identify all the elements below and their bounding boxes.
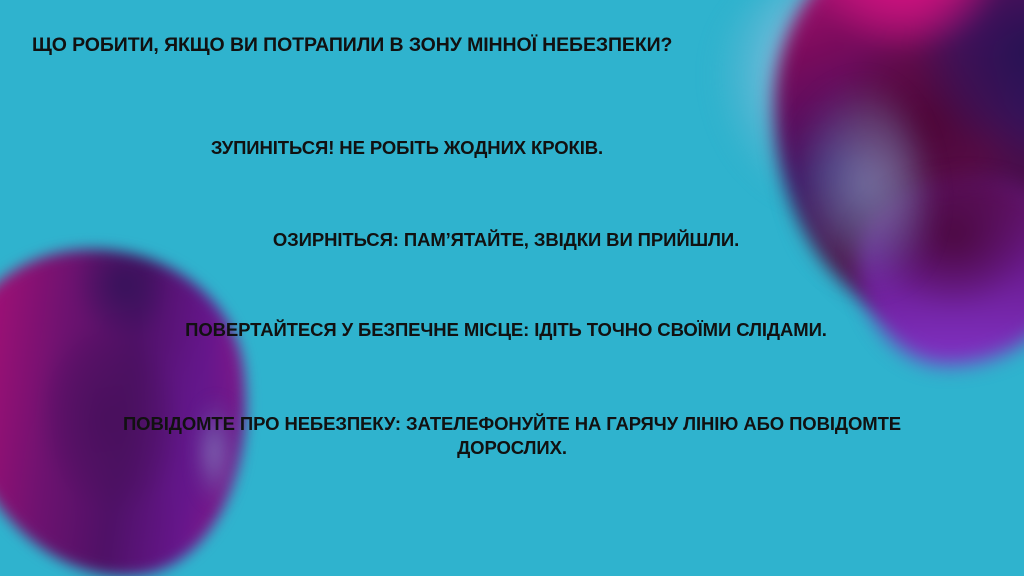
safety-step-3: ПОВЕРТАЙТЕСЯ У БЕЗПЕЧНЕ МІСЦЕ: ІДІТЬ ТОЧ… xyxy=(0,318,1024,342)
safety-step-1: ЗУПИНІТЬСЯ! НЕ РОБІТЬ ЖОДНИХ КРОКІВ. xyxy=(0,136,1024,160)
safety-step-4: ПОВІДОМТЕ ПРО НЕБЕЗПЕКУ: ЗАТЕЛЕФОНУЙТЕ Н… xyxy=(90,412,934,461)
slide-title: ЩО РОБИТИ, ЯКЩО ВИ ПОТРАПИЛИ В ЗОНУ МІНН… xyxy=(32,33,672,59)
slide-canvas: ЩО РОБИТИ, ЯКЩО ВИ ПОТРАПИЛИ В ЗОНУ МІНН… xyxy=(0,0,1024,576)
slide-text-layer: ЩО РОБИТИ, ЯКЩО ВИ ПОТРАПИЛИ В ЗОНУ МІНН… xyxy=(0,0,1024,576)
safety-step-2: ОЗИРНІТЬСЯ: ПАМ’ЯТАЙТЕ, ЗВІДКИ ВИ ПРИЙШЛ… xyxy=(0,228,1024,252)
